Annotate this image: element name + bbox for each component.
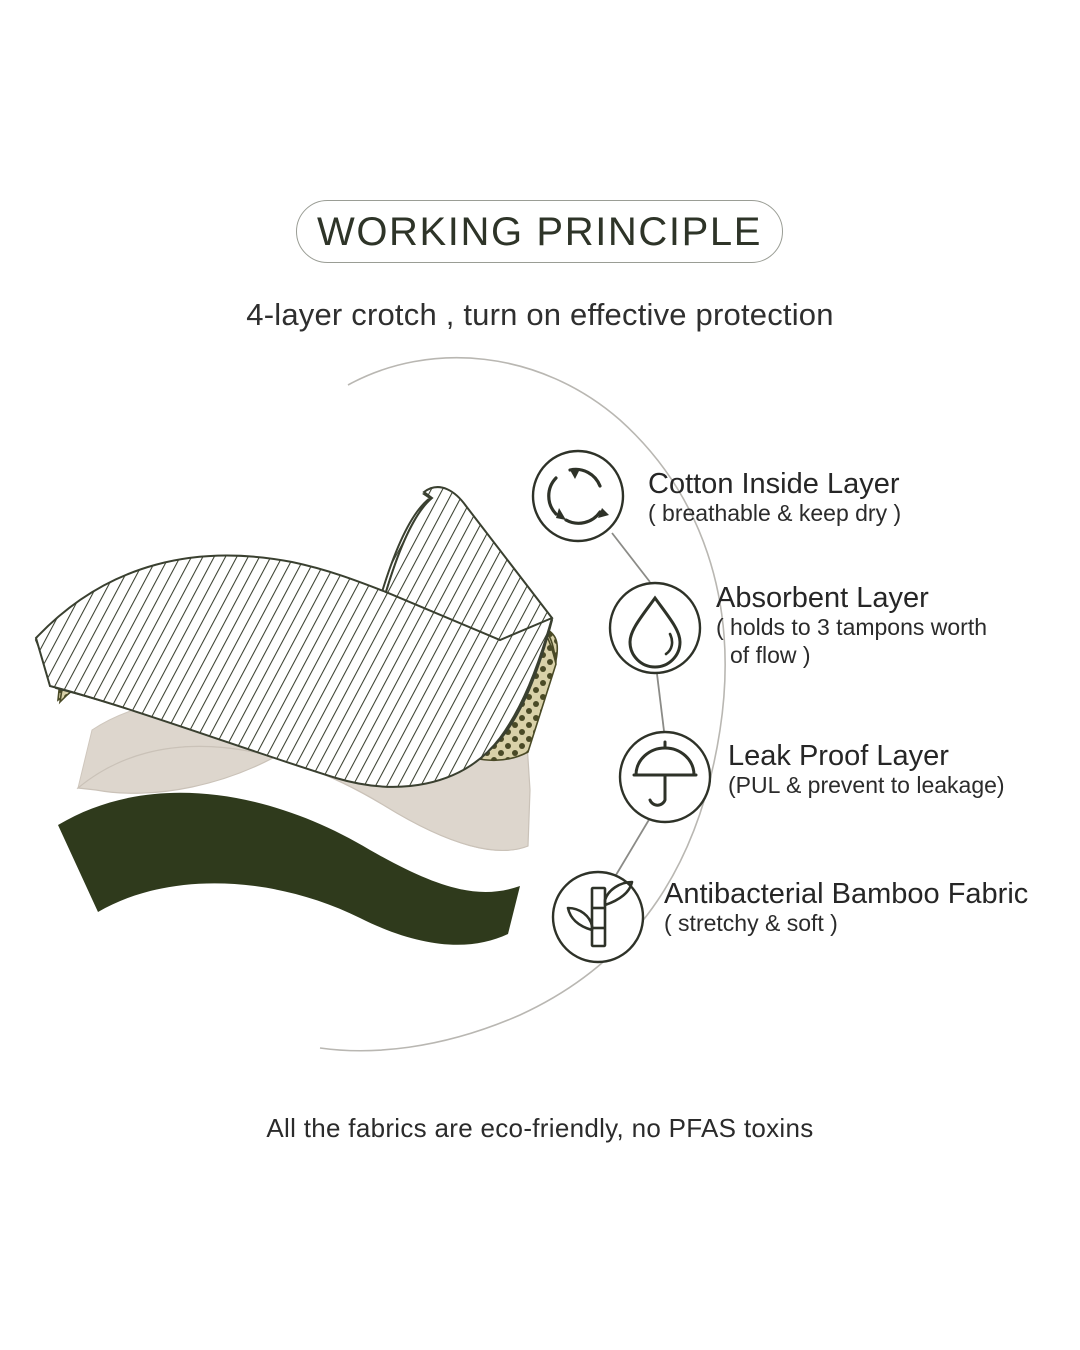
- icon-circle-leakproof[interactable]: [620, 732, 710, 822]
- label-title: Antibacterial Bamboo Fabric: [664, 878, 1028, 910]
- label-subtitle: ( breathable & keep dry ): [648, 500, 901, 527]
- icon-circle-bamboo[interactable]: [553, 872, 643, 962]
- label-title: Absorbent Layer: [716, 582, 987, 614]
- icon-circle-cotton[interactable]: [533, 451, 623, 541]
- label-title: Cotton Inside Layer: [648, 468, 901, 500]
- icon-circle-absorbent[interactable]: [610, 583, 700, 673]
- label-cotton-inside-layer: Cotton Inside Layer ( breathable & keep …: [648, 468, 901, 528]
- label-subtitle-line1: ( holds to 3 tampons worth: [716, 614, 987, 641]
- infographic-canvas: WORKING PRINCIPLE 4-layer crotch , turn …: [0, 0, 1080, 1350]
- icon-circles-group: [0, 0, 1080, 1350]
- label-subtitle-line2: of flow ): [716, 642, 987, 669]
- footer-note: All the fabrics are eco-friendly, no PFA…: [0, 1113, 1080, 1144]
- label-subtitle: ( stretchy & soft ): [664, 910, 1028, 937]
- label-leak-proof-layer: Leak Proof Layer (PUL & prevent to leaka…: [728, 740, 1005, 800]
- recycle-icon-circle[interactable]: [533, 451, 623, 541]
- label-absorbent-layer: Absorbent Layer ( holds to 3 tampons wor…: [716, 582, 987, 669]
- label-title: Leak Proof Layer: [728, 740, 1005, 772]
- bamboo-icon-circle[interactable]: [553, 872, 643, 962]
- label-subtitle: (PUL & prevent to leakage): [728, 772, 1005, 799]
- label-antibacterial-bamboo-fabric: Antibacterial Bamboo Fabric ( stretchy &…: [664, 878, 1028, 938]
